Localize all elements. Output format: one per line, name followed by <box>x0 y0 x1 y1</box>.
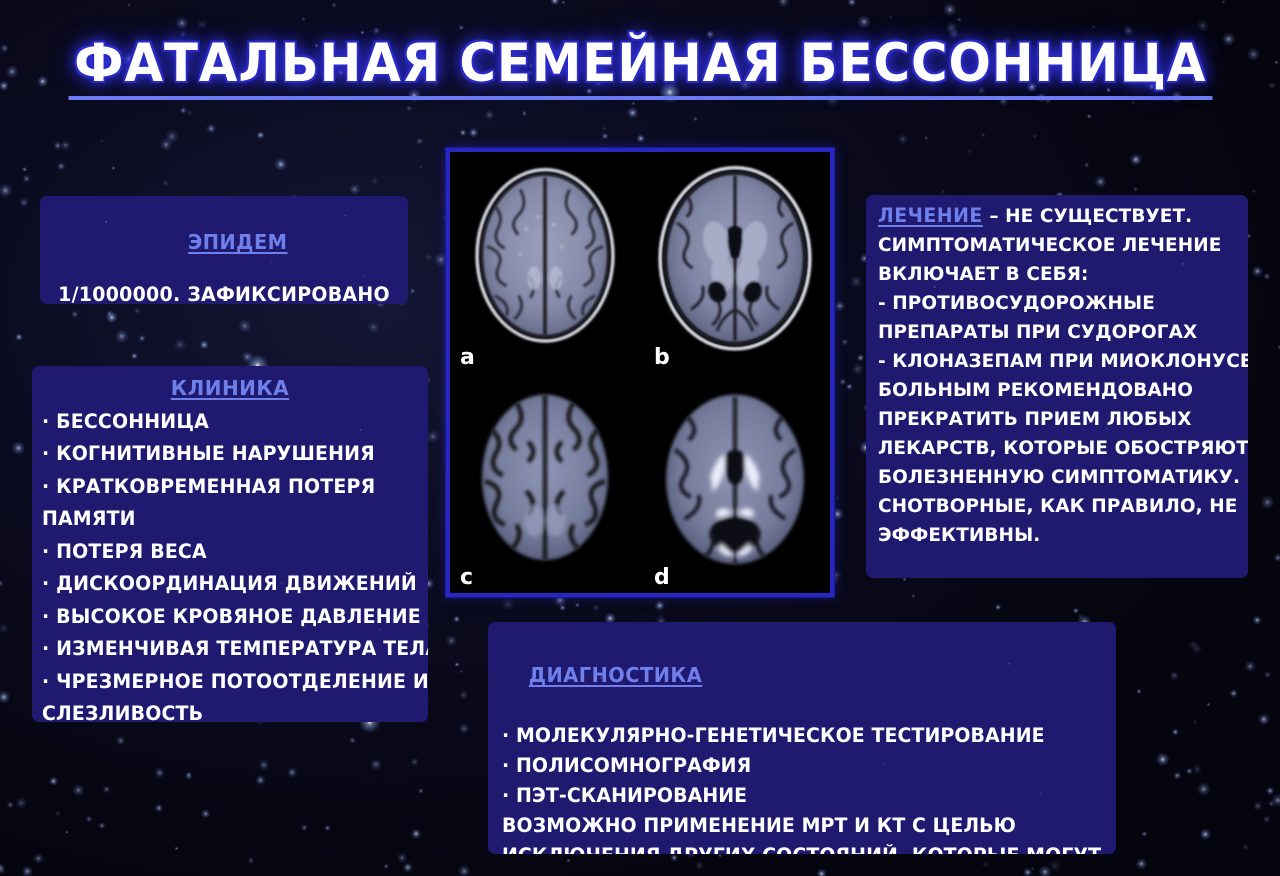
poster-title-container: ФАТАЛЬНАЯ СЕМЕЙНАЯ БЕССОННИЦА <box>0 36 1280 100</box>
treatment-line: БОЛЬНЫМ РЕКОМЕНДОВАНО <box>878 376 1227 405</box>
mri-label-b: b <box>654 347 670 369</box>
treatment-line: БОЛЕЗНЕННУЮ СИМПТОМАТИКУ. <box>878 463 1227 492</box>
brain-scan-a-image <box>450 152 640 373</box>
clinic-item: ПАМЯТИ <box>40 503 409 536</box>
treatment-line: СНОТВОРНЫЕ, КАК ПРАВИЛО, НЕ <box>878 492 1227 521</box>
diagnostics-heading-row: ДИАГНОСТИКА <box>502 630 1088 721</box>
panel-diagnostics: ДИАГНОСТИКА · МОЛЕКУЛЯРНО-ГЕНЕТИЧЕСКОЕ Т… <box>488 622 1116 854</box>
treatment-line: ПРЕКРАТИТЬ ПРИЕМ ЛЮБЫХ <box>878 405 1227 434</box>
epidemiology-line-1: 1/1000000. ЗАФИКСИРОВАНО <box>55 282 393 304</box>
mri-label-d: d <box>654 567 670 589</box>
clinic-heading: КЛИНИКА <box>171 376 290 400</box>
mri-figure: a <box>446 148 834 597</box>
mri-panel-b: b <box>640 152 830 373</box>
diagnostics-item: ВОЗМОЖНО ПРИМЕНЕНИЕ МРТ И КТ С ЦЕЛЬЮ <box>502 811 1088 841</box>
treatment-line: ПРЕПАРАТЫ ПРИ СУДОРОГАХ <box>878 318 1227 347</box>
diagnostics-item: ИСКЛЮЧЕНИЯ ДРУГИХ СОСТОЯНИЙ, КОТОРЫЕ МОГ… <box>502 841 1088 854</box>
treatment-heading: ЛЕЧЕНИЕ <box>878 204 983 227</box>
treatment-heading-row: ЛЕЧЕНИЕ – НЕ СУЩЕСТВУЕТ. <box>878 201 1227 231</box>
brain-scan-c-image <box>450 373 640 594</box>
clinic-item: · ИЗМЕНЧИВАЯ ТЕМПЕРАТУРА ТЕЛА <box>40 633 409 666</box>
epidemiology-heading: ЭПИДЕМ <box>188 230 287 254</box>
treatment-line: ВКЛЮЧАЕТ В СЕБЯ: <box>878 260 1227 289</box>
treatment-line: СИМПТОМАТИЧЕСКОЕ ЛЕЧЕНИЕ <box>878 231 1227 260</box>
treatment-line: ЛЕКАРСТВ, КОТОРЫЕ ОБОСТРЯЮТ <box>878 434 1227 463</box>
mri-panel-c: c <box>450 373 640 594</box>
clinic-item: · БЕССОННИЦА <box>40 406 409 439</box>
panel-epidemiology: ЭПИДЕМ 1/1000000. ЗАФИКСИРОВАНО НЕ МЕНЕЕ… <box>40 196 408 304</box>
treatment-line: - КЛОНАЗЕПАМ ПРИ МИОКЛОНУСЕ <box>878 347 1227 376</box>
clinic-item: · ЧРЕЗМЕРНОЕ ПОТООТДЕЛЕНИЕ И <box>40 666 409 699</box>
panel-treatment: ЛЕЧЕНИЕ – НЕ СУЩЕСТВУЕТ. СИМПТОМАТИЧЕСКО… <box>866 195 1248 578</box>
treatment-line: ЭФФЕКТИВНЫ. <box>878 521 1227 550</box>
treatment-line: - ПРОТИВОСУДОРОЖНЫЕ <box>878 289 1227 318</box>
mri-label-c: c <box>460 567 473 589</box>
clinic-item: · КРАТКОВРЕМЕННАЯ ПОТЕРЯ <box>40 471 409 504</box>
diagnostics-item: · МОЛЕКУЛЯРНО-ГЕНЕТИЧЕСКОЕ ТЕСТИРОВАНИЕ <box>502 721 1088 751</box>
clinic-heading-row: КЛИНИКА <box>40 372 420 406</box>
panel-clinical-features: КЛИНИКА · БЕССОННИЦА · КОГНИТИВНЫЕ НАРУШ… <box>32 366 428 722</box>
clinic-item: · ДИСКООРДИНАЦИЯ ДВИЖЕНИЙ <box>40 568 409 601</box>
brain-scan-b-image <box>640 152 830 373</box>
clinic-item: · КОГНИТИВНЫЕ НАРУШЕНИЯ <box>40 438 409 471</box>
diagnostics-item: · ПОЛИСОМНОГРАФИЯ <box>502 751 1088 781</box>
diagnostics-heading: ДИАГНОСТИКА <box>529 663 703 687</box>
mri-panel-d: d <box>640 373 830 594</box>
diagnostics-item: · ПЭТ-СКАНИРОВАНИЕ <box>502 781 1088 811</box>
clinic-item: СЛЕЗЛИВОСТЬ <box>40 698 409 722</box>
mri-label-a: a <box>460 347 475 369</box>
clinic-item: · ВЫСОКОЕ КРОВЯНОЕ ДАВЛЕНИЕ <box>40 601 409 634</box>
page-title: ФАТАЛЬНАЯ СЕМЕЙНАЯ БЕССОННИЦА <box>68 36 1212 100</box>
mri-grid: a <box>450 152 830 593</box>
treatment-heading-tail: – НЕ СУЩЕСТВУЕТ. <box>983 205 1192 227</box>
mri-panel-a: a <box>450 152 640 373</box>
clinic-item: · ПОТЕРЯ ВЕСА <box>40 536 409 569</box>
epidemiology-heading-row: ЭПИДЕМ <box>55 203 393 282</box>
brain-scan-d-image <box>640 373 830 594</box>
